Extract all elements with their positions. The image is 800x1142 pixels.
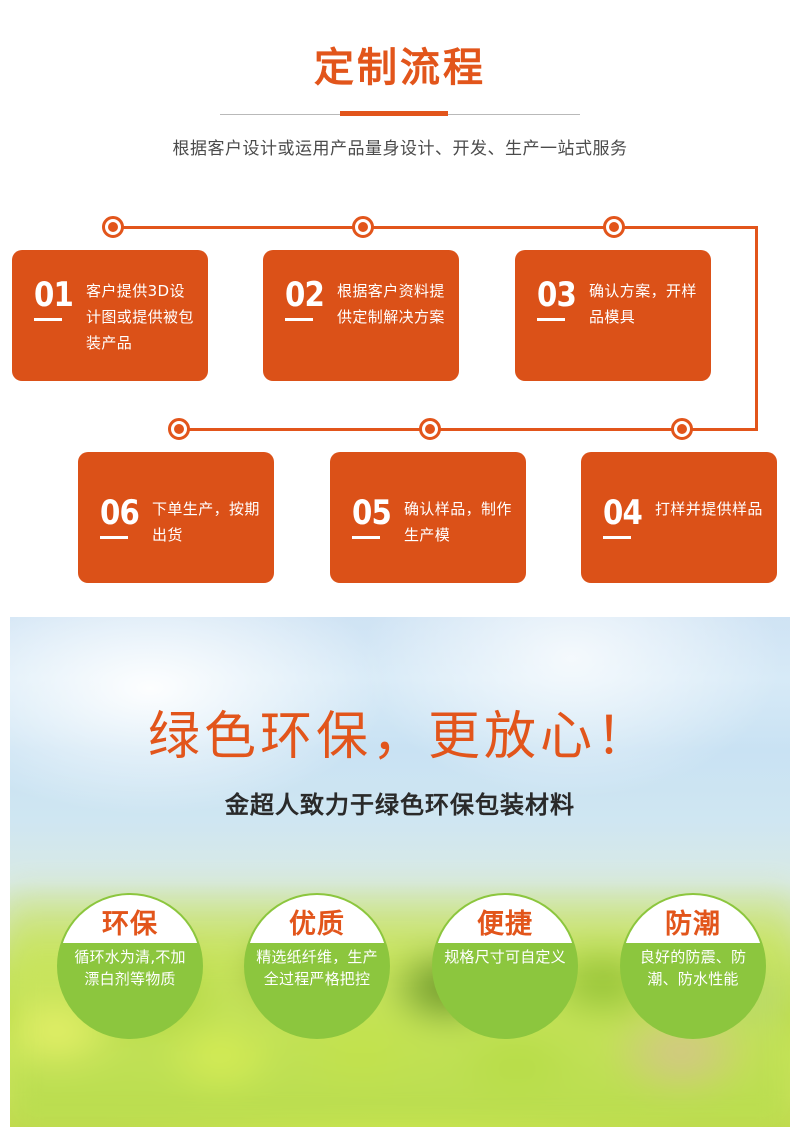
page-title: 定制流程 bbox=[0, 44, 800, 92]
step-card-02[interactable]: 02 根据客户资料提供定制解决方案 bbox=[263, 250, 459, 381]
step-dash bbox=[285, 318, 313, 321]
step-number-block: 03 bbox=[537, 278, 589, 321]
step-dash bbox=[352, 536, 380, 539]
step-dash bbox=[603, 536, 631, 539]
bubble-title-area: 环保 bbox=[59, 895, 201, 943]
eco-bubble-youzhi[interactable]: 优质 精选纸纤维，生产全过程严格把控 bbox=[244, 893, 390, 1039]
page-subtitle: 根据客户设计或运用产品量身设计、开发、生产一站式服务 bbox=[0, 134, 800, 159]
step-number-block: 02 bbox=[285, 278, 337, 321]
step-number: 02 bbox=[285, 280, 330, 311]
step-card-06[interactable]: 06 下单生产，按期出货 bbox=[78, 452, 274, 583]
step-card-inner: 05 确认样品，制作生产模 bbox=[330, 452, 526, 549]
node-dot-05 bbox=[419, 418, 441, 440]
step-card-inner: 06 下单生产，按期出货 bbox=[78, 452, 274, 549]
eco-subheadline: 金超人致力于绿色环保包装材料 bbox=[10, 785, 790, 820]
bubble-text: 良好的防震、防潮、防水性能 bbox=[622, 943, 764, 1039]
step-text: 根据客户资料提供定制解决方案 bbox=[337, 278, 445, 331]
connector-rail-top bbox=[113, 226, 758, 229]
eco-feature-list: 环保 循环水为清,不加漂白剂等物质 优质 精选纸纤维，生产全过程严格把控 便捷 … bbox=[10, 893, 790, 1053]
step-number: 03 bbox=[537, 280, 582, 311]
step-text: 客户提供3D设计图或提供被包装产品 bbox=[86, 278, 194, 356]
eco-bubble-huanbao[interactable]: 环保 循环水为清,不加漂白剂等物质 bbox=[57, 893, 203, 1039]
step-card-inner: 02 根据客户资料提供定制解决方案 bbox=[263, 250, 459, 331]
bubble-title-area: 优质 bbox=[246, 895, 388, 943]
node-dot-03 bbox=[603, 216, 625, 238]
bubble-text: 精选纸纤维，生产全过程严格把控 bbox=[246, 943, 388, 1039]
step-dash bbox=[100, 536, 128, 539]
step-number-block: 05 bbox=[352, 496, 404, 539]
node-dot-06 bbox=[168, 418, 190, 440]
step-card-03[interactable]: 03 确认方案，开样品模具 bbox=[515, 250, 711, 381]
eco-headline: 绿色环保，更放心！ bbox=[10, 709, 790, 766]
step-number-block: 01 bbox=[34, 278, 86, 321]
page-root: 定制流程 根据客户设计或运用产品量身设计、开发、生产一站式服务 01 客户提供3… bbox=[0, 0, 800, 1142]
step-number: 06 bbox=[100, 498, 145, 529]
step-card-inner: 04 打样并提供样品 bbox=[581, 452, 777, 539]
bubble-title: 优质 bbox=[289, 902, 345, 941]
step-dash bbox=[34, 318, 62, 321]
step-card-inner: 03 确认方案，开样品模具 bbox=[515, 250, 711, 331]
step-text: 打样并提供样品 bbox=[655, 496, 763, 523]
title-divider-accent bbox=[340, 111, 448, 116]
step-number-block: 06 bbox=[100, 496, 152, 539]
bubble-text: 循环水为清,不加漂白剂等物质 bbox=[59, 943, 201, 1039]
step-number: 01 bbox=[34, 280, 79, 311]
bubble-title-area: 便捷 bbox=[434, 895, 576, 943]
step-card-inner: 01 客户提供3D设计图或提供被包装产品 bbox=[12, 250, 208, 356]
step-card-04[interactable]: 04 打样并提供样品 bbox=[581, 452, 777, 583]
step-number: 05 bbox=[352, 498, 397, 529]
bubble-title-area: 防潮 bbox=[622, 895, 764, 943]
node-dot-01 bbox=[102, 216, 124, 238]
step-card-01[interactable]: 01 客户提供3D设计图或提供被包装产品 bbox=[12, 250, 208, 381]
process-section: 定制流程 根据客户设计或运用产品量身设计、开发、生产一站式服务 01 客户提供3… bbox=[0, 0, 800, 617]
step-card-05[interactable]: 05 确认样品，制作生产模 bbox=[330, 452, 526, 583]
step-number-block: 04 bbox=[603, 496, 655, 539]
bubble-title: 便捷 bbox=[477, 902, 533, 941]
eco-section: 绿色环保，更放心！ 金超人致力于绿色环保包装材料 环保 循环水为清,不加漂白剂等… bbox=[10, 617, 790, 1127]
step-text: 确认方案，开样品模具 bbox=[589, 278, 697, 331]
step-dash bbox=[537, 318, 565, 321]
bubble-text: 规格尺寸可自定义 bbox=[434, 943, 576, 1039]
step-text: 确认样品，制作生产模 bbox=[404, 496, 512, 549]
eco-bubble-bianjie[interactable]: 便捷 规格尺寸可自定义 bbox=[432, 893, 578, 1039]
step-text: 下单生产，按期出货 bbox=[152, 496, 260, 549]
bubble-title: 防潮 bbox=[665, 902, 721, 941]
eco-bubble-fangchao[interactable]: 防潮 良好的防震、防潮、防水性能 bbox=[620, 893, 766, 1039]
node-dot-02 bbox=[352, 216, 374, 238]
node-dot-04 bbox=[671, 418, 693, 440]
step-number: 04 bbox=[603, 498, 648, 529]
connector-rail-right bbox=[755, 226, 758, 431]
bubble-title: 环保 bbox=[102, 902, 158, 941]
